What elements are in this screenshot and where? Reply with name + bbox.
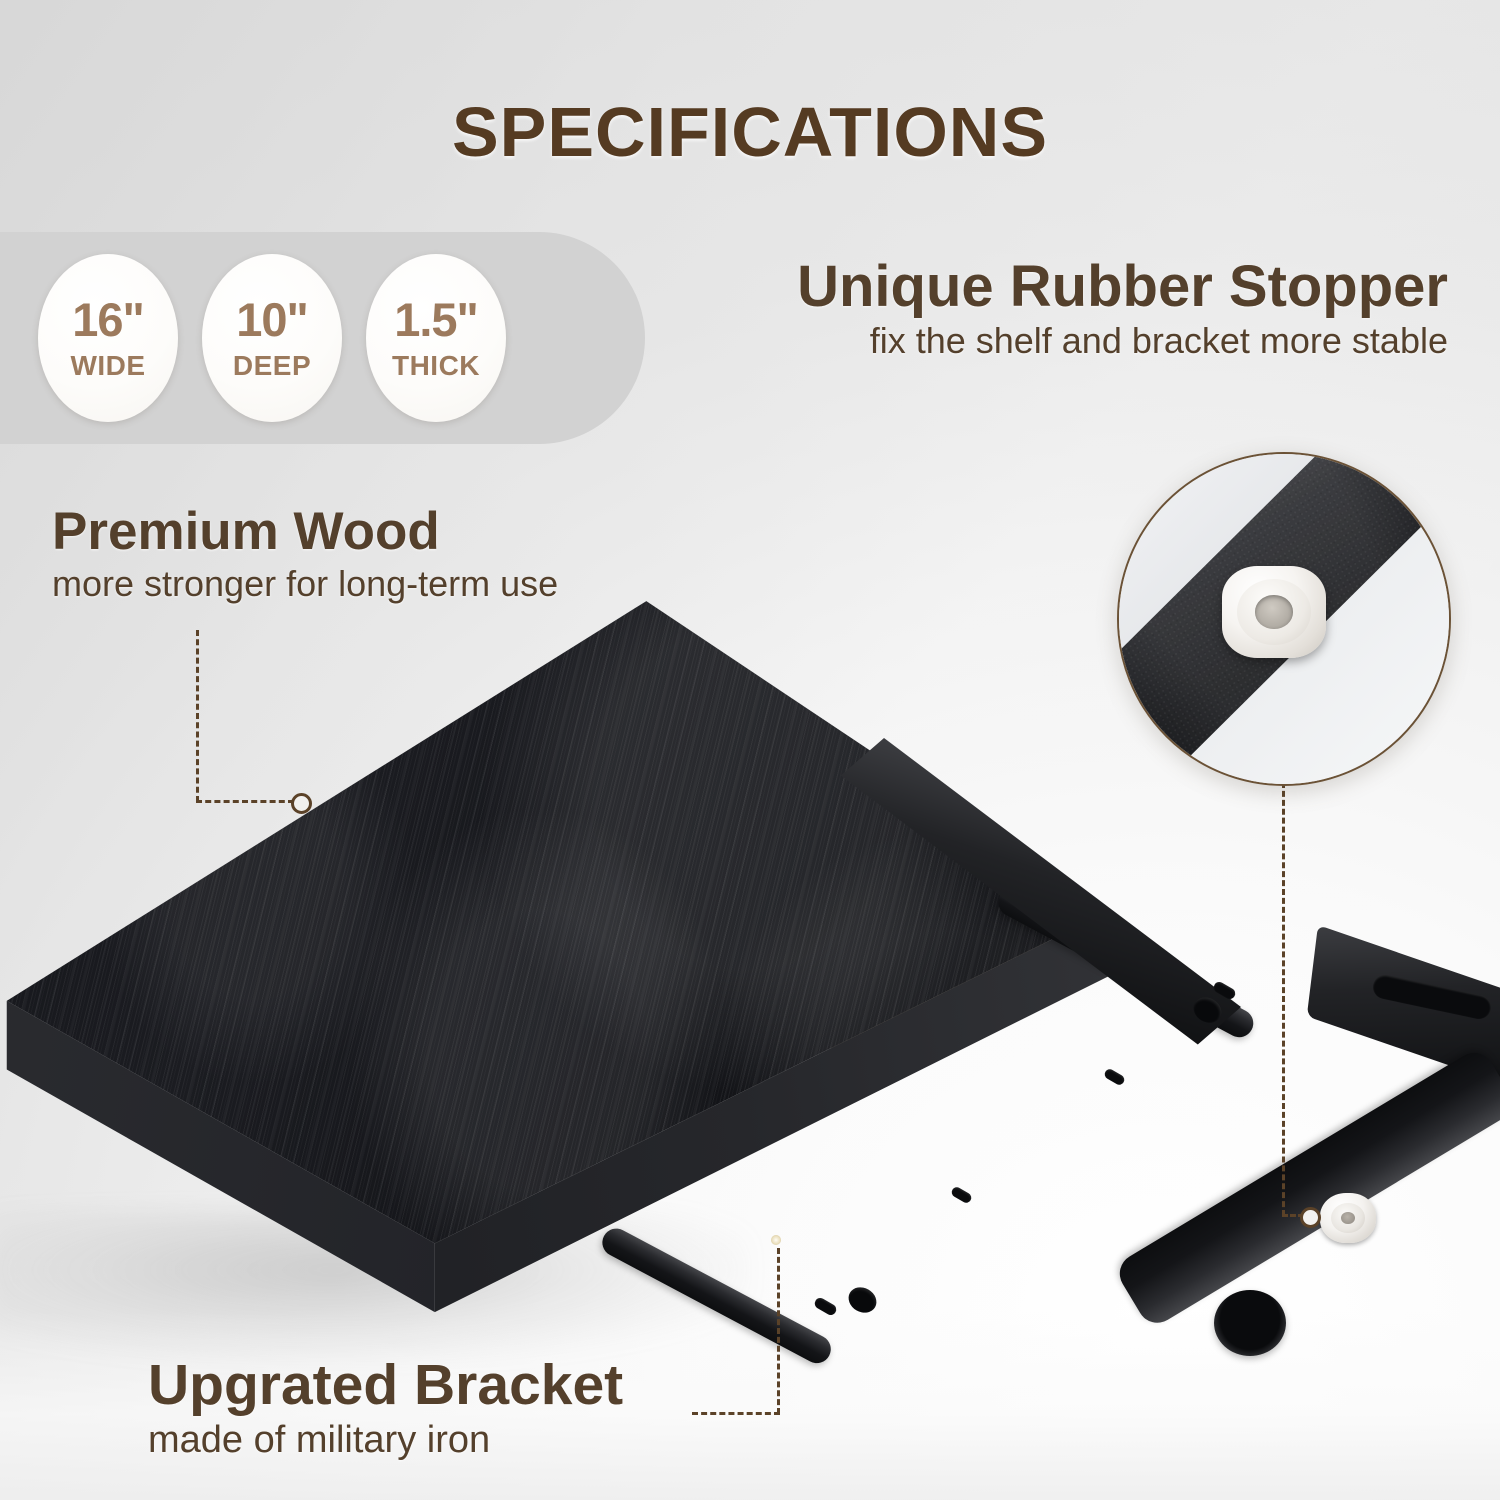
callout-endpoint-icon: [1300, 1207, 1321, 1228]
callout-premium-wood-vertical: [196, 630, 199, 802]
spec-badge-thickness-value: 1.5": [394, 296, 478, 343]
rubber-stopper-on-rod: [1320, 1193, 1376, 1243]
spec-badge-width: 16" WIDE: [38, 254, 178, 422]
callout-upgrated-bracket-vertical: [777, 1248, 780, 1414]
magnifier-circle-icon: [1117, 452, 1451, 786]
rubber-stopper-center-hole: [1255, 595, 1292, 628]
spec-badge-depth: 10" DEEP: [202, 254, 342, 422]
spec-badge-thickness-label: THICK: [392, 352, 480, 380]
callout-endpoint-icon: [291, 793, 312, 814]
feature-title-rubber-stopper: Unique Rubber Stopper: [797, 256, 1448, 317]
feature-title-premium-wood: Premium Wood: [52, 504, 558, 560]
rubber-stopper-center-hole: [1341, 1212, 1354, 1224]
feature-heading-premium-wood: Premium Wood more stronger for long-term…: [52, 504, 558, 604]
feature-subtitle-rubber-stopper: fix the shelf and bracket more stable: [797, 321, 1448, 361]
feature-title-upgrated-bracket: Upgrated Bracket: [148, 1355, 623, 1415]
spec-badge-width-label: WIDE: [70, 352, 145, 380]
page-title: SPECIFICATIONS: [0, 92, 1500, 172]
rubber-stopper-icon: [1222, 566, 1326, 658]
spec-badge-group: 16" WIDE 10" DEEP 1.5" THICK: [38, 254, 506, 422]
feature-subtitle-premium-wood: more stronger for long-term use: [52, 564, 558, 604]
spec-badge-thickness: 1.5" THICK: [366, 254, 506, 422]
feature-heading-rubber-stopper: Unique Rubber Stopper fix the shelf and …: [797, 256, 1448, 362]
feature-heading-upgrated-bracket: Upgrated Bracket made of military iron: [148, 1355, 623, 1462]
spec-badge-width-value: 16": [72, 296, 144, 343]
bracket2-rod: [1112, 1045, 1500, 1330]
feature-subtitle-upgrated-bracket: made of military iron: [148, 1419, 623, 1462]
bracket2-rod-open-end: [1214, 1290, 1286, 1356]
product-specifications-infographic: SPECIFICATIONS 16" WIDE 10" DEEP 1.5" TH…: [0, 0, 1500, 1500]
spec-badge-depth-label: DEEP: [233, 352, 311, 380]
callout-rubber-stopper-vertical: [1282, 782, 1285, 1216]
spec-badge-depth-value: 10": [236, 296, 308, 343]
callout-premium-wood-horizontal: [196, 800, 294, 803]
callout-upgrated-bracket-horizontal: [692, 1412, 780, 1415]
